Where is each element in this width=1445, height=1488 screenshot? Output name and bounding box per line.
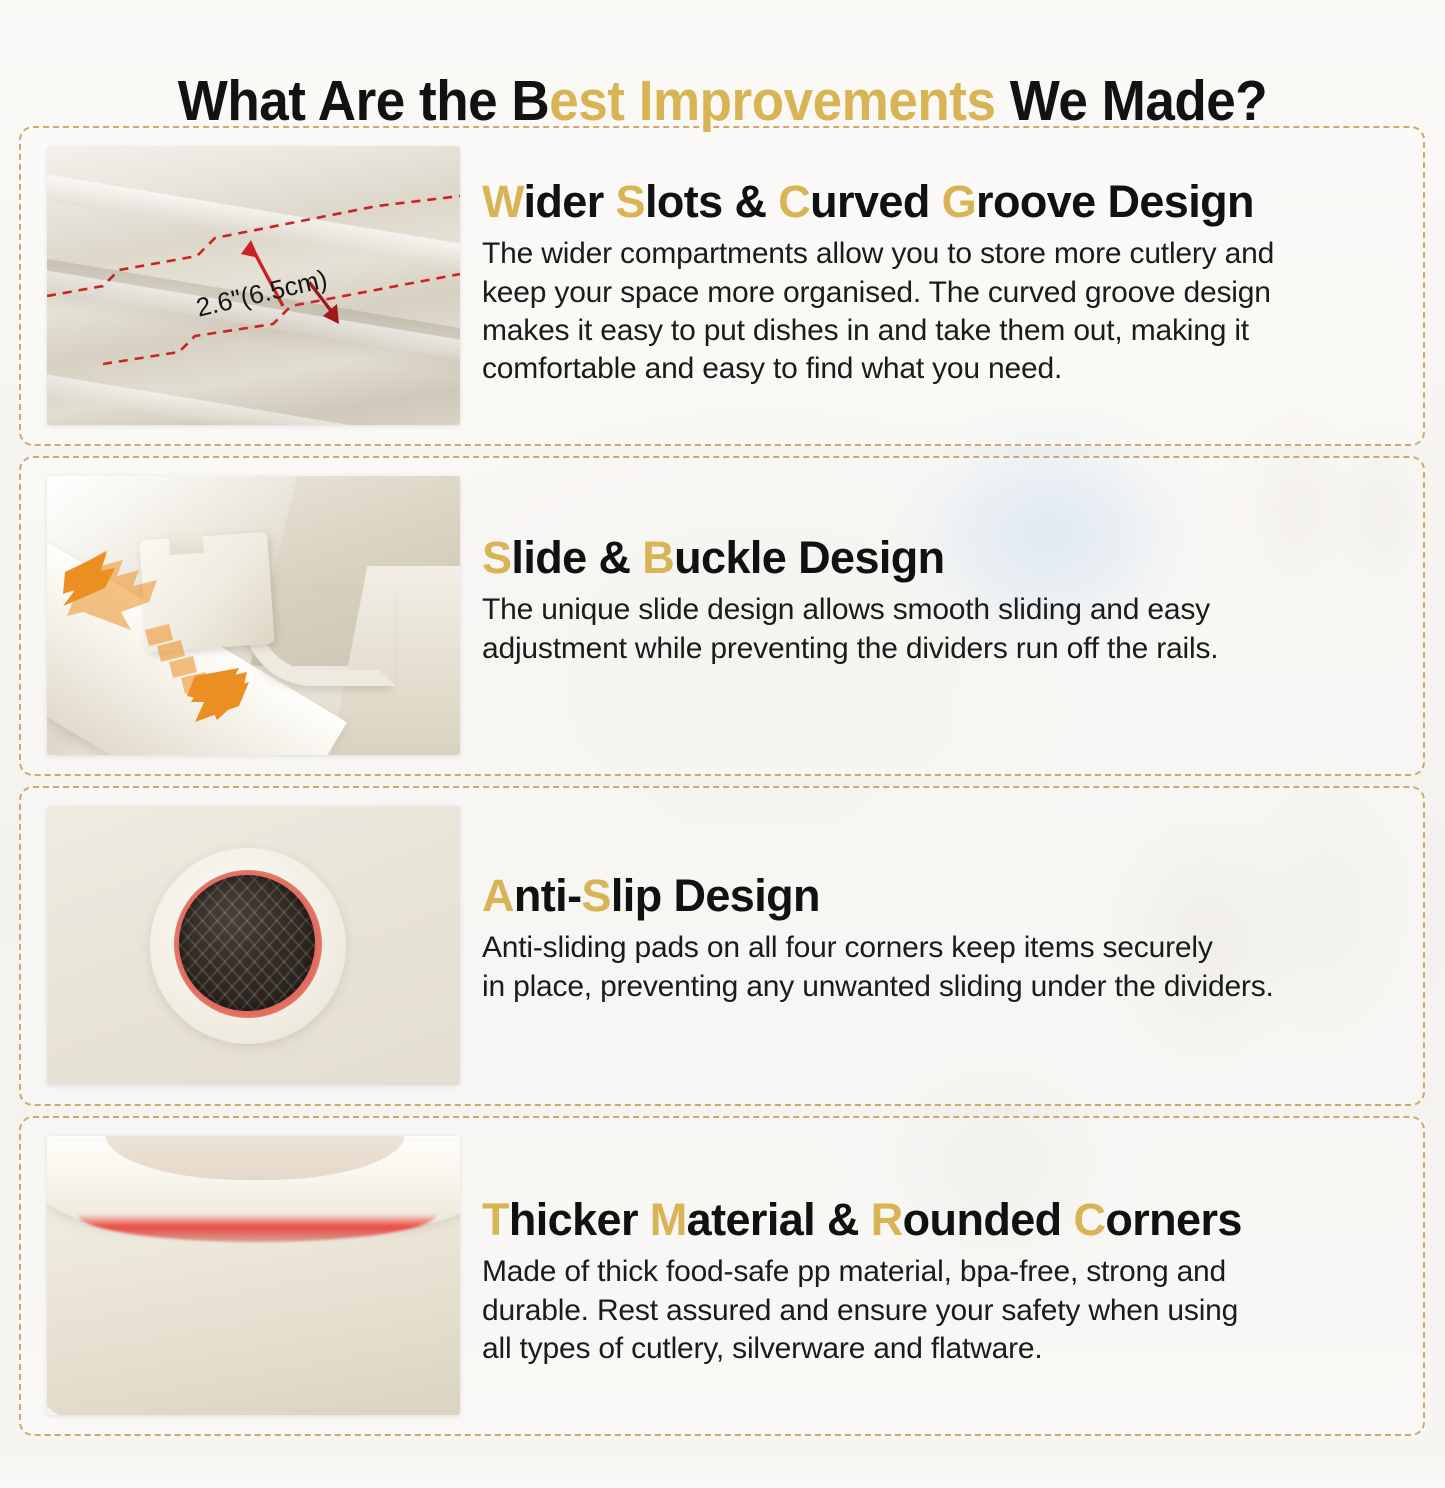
feature-image-anti-slip-pad-closeup xyxy=(47,806,460,1085)
feature-heading: Slide & Buckle Design xyxy=(482,534,1403,581)
feature-panel-anti-slip: Anti-Slip Design Anti-sliding pads on al… xyxy=(19,786,1425,1106)
feature-description: Anti-sliding pads on all four corners ke… xyxy=(482,929,1403,1006)
slide-arrow-down-right-icon xyxy=(143,624,293,734)
feature-panel-slide-buckle: Slide & Buckle Design The unique slide d… xyxy=(19,456,1425,776)
feature-panel-wider-slots: 2.6"(6.5cm) Wider Slots & Curved Groove … xyxy=(19,126,1425,446)
page-title: What Are the Best Improvements We Made? xyxy=(51,68,1395,134)
feature-description: The unique slide design allows smooth sl… xyxy=(482,591,1403,668)
feature-text-block: Anti-Slip Design Anti-sliding pads on al… xyxy=(460,788,1423,1006)
feature-image-slide-buckle-closeup xyxy=(47,476,460,755)
feature-panel-thicker-material: Thicker Material & Rounded Corners Made … xyxy=(19,1116,1425,1436)
feature-text-block: Wider Slots & Curved Groove Design The w… xyxy=(460,128,1423,389)
feature-heading: Wider Slots & Curved Groove Design xyxy=(482,178,1403,225)
measure-arrow-up-head xyxy=(241,240,259,258)
feature-description: Made of thick food-safe pp material, bpa… xyxy=(482,1253,1403,1368)
feature-heading: Thicker Material & Rounded Corners xyxy=(482,1196,1403,1243)
feature-text-block: Slide & Buckle Design The unique slide d… xyxy=(460,458,1423,668)
feature-image-rounded-corner-closeup xyxy=(47,1136,460,1415)
anti-slip-rubber-pad xyxy=(179,875,315,1011)
feature-image-drawer-compartment-closeup: 2.6"(6.5cm) xyxy=(47,146,460,425)
measure-arrow-down-head xyxy=(323,304,339,324)
feature-heading: Anti-Slip Design xyxy=(482,872,1403,919)
feature-description: The wider compartments allow you to stor… xyxy=(482,235,1403,389)
feature-text-block: Thicker Material & Rounded Corners Made … xyxy=(460,1118,1423,1368)
